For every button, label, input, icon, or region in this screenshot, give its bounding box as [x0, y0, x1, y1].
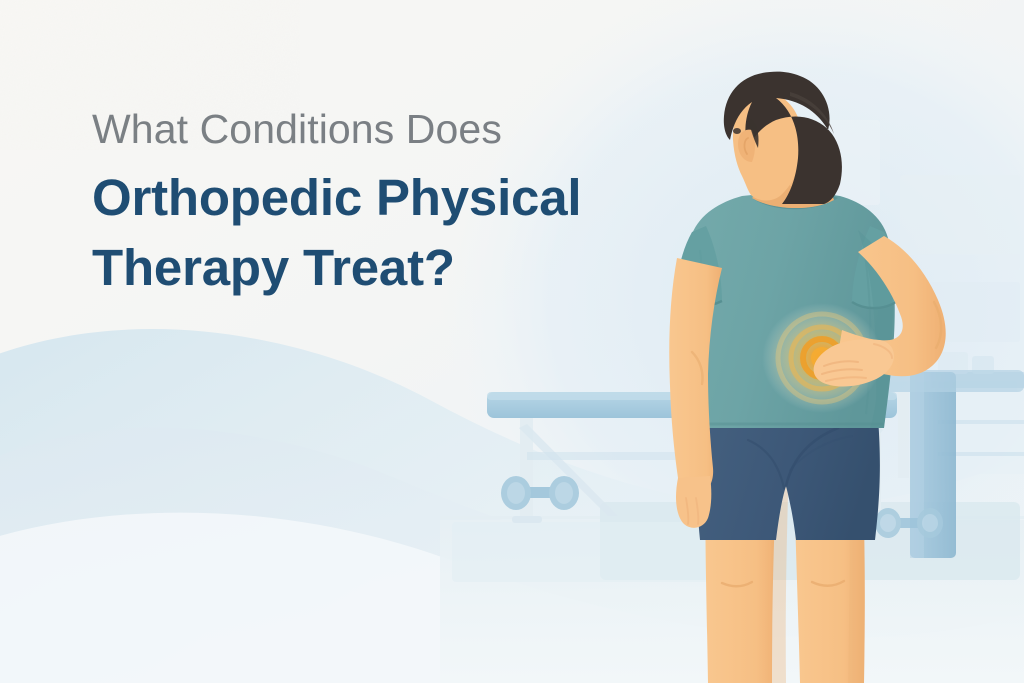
headline-main-line-2: Therapy Treat? [92, 233, 652, 303]
illustration-banner: What Conditions Does Orthopedic Physical… [0, 0, 1024, 683]
headline-subline: What Conditions Does [92, 104, 652, 154]
dumbbell-floor-left [501, 476, 579, 510]
headline-main-line-1: Orthopedic Physical [92, 163, 652, 233]
scene-layer [0, 0, 1024, 683]
hand-left [676, 476, 711, 528]
eye [733, 128, 741, 134]
headline-block: What Conditions Does Orthopedic Physical… [92, 104, 652, 304]
head [724, 72, 842, 204]
